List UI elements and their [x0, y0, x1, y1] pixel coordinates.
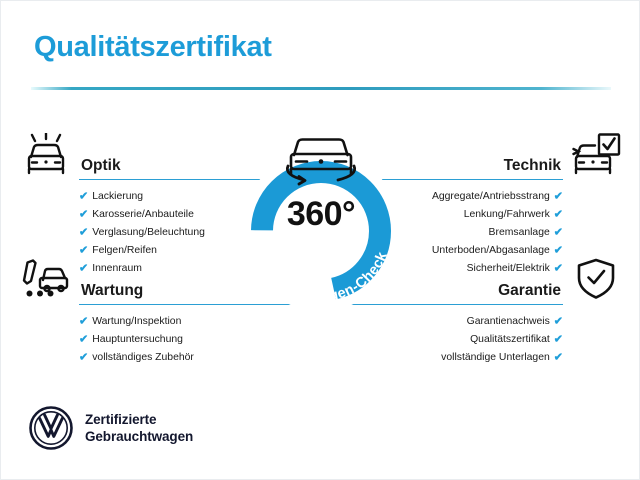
check-icon: ✔ — [79, 209, 88, 220]
list-item-label: Lenkung/Fahrwerk — [464, 206, 550, 224]
list-item-label: Verglasung/Beleuchtung — [92, 224, 205, 242]
section-title: Optik — [81, 157, 121, 175]
section-title: Wartung — [81, 282, 143, 300]
list-item-label: Qualitätszertifikat — [470, 331, 550, 349]
check-icon: ✔ — [79, 352, 88, 363]
list-item-label: Garantienachweis — [467, 313, 550, 331]
list-item: ✔Wartung/Inspektion — [19, 313, 219, 331]
footer-logo: Zertifizierte Gebrauchtwagen — [29, 406, 193, 450]
list-item: Qualitätszertifikat✔ — [423, 331, 623, 349]
logo-text: Zertifizierte Gebrauchtwagen — [85, 411, 193, 445]
list-item-label: Lackierung — [92, 188, 143, 206]
section-optik: Optik ✔Lackierung ✔Karosserie/Anbauteile… — [19, 132, 219, 178]
vw-logo-icon — [29, 406, 73, 450]
section-header: Garantie — [423, 257, 623, 303]
list-item: Lenkung/Fahrwerk✔ — [423, 206, 623, 224]
check-icon: ✔ — [79, 227, 88, 238]
check-icon: ✔ — [79, 191, 88, 202]
badge-number: 360° — [225, 195, 417, 234]
section-header: Wartung — [19, 257, 219, 303]
list-item-label: Bremsanlage — [489, 224, 550, 242]
list-item-label: Aggregate/Antriebsstrang — [432, 188, 550, 206]
check-icon: ✔ — [554, 227, 563, 238]
check-icon: ✔ — [554, 352, 563, 363]
section-title: Garantie — [498, 282, 561, 300]
logo-line-1: Zertifizierte — [85, 411, 193, 428]
page-title: Qualitätszertifikat — [34, 31, 272, 64]
check-icon: ✔ — [554, 209, 563, 220]
list-item: Bremsanlage✔ — [423, 224, 623, 242]
list-item: ✔Lackierung — [19, 188, 219, 206]
list-item-label: Karosserie/Anbauteile — [92, 206, 194, 224]
logo-line-2: Gebrauchtwagen — [85, 428, 193, 445]
list-item-label: vollständige Unterlagen — [441, 349, 550, 367]
section-wartung: Wartung ✔Wartung/Inspektion ✔Hauptunters… — [19, 257, 219, 303]
car-shine-icon — [19, 132, 73, 176]
list-item: vollständige Unterlagen✔ — [423, 349, 623, 367]
title-divider — [31, 87, 611, 90]
check-icon: ✔ — [554, 316, 563, 327]
check-icon: ✔ — [79, 245, 88, 256]
check-icon: ✔ — [554, 245, 563, 256]
section-title: Technik — [504, 157, 561, 175]
checklist: Garantienachweis✔ Qualitätszertifikat✔ v… — [423, 313, 623, 367]
check-icon: ✔ — [554, 334, 563, 345]
section-technik: Technik Aggregate/Antriebsstrang✔ Lenkun… — [423, 132, 623, 178]
shield-check-icon — [569, 257, 623, 301]
checklist: ✔Wartung/Inspektion ✔Hauptuntersuchung ✔… — [19, 313, 219, 367]
section-header: Optik — [19, 132, 219, 178]
section-garantie: Garantie Garantienachweis✔ Qualitätszert… — [423, 257, 623, 303]
certificate-page: Qualitätszertifikat Optik — [0, 0, 640, 480]
wrench-car-icon — [19, 257, 73, 301]
list-item: ✔Hauptuntersuchung — [19, 331, 219, 349]
list-item: ✔Verglasung/Beleuchtung — [19, 224, 219, 242]
list-item: Garantienachweis✔ — [423, 313, 623, 331]
list-item-label: Wartung/Inspektion — [92, 313, 181, 331]
section-header: Technik — [423, 132, 623, 178]
list-item: ✔Karosserie/Anbauteile — [19, 206, 219, 224]
list-item-label: Hauptuntersuchung — [92, 331, 183, 349]
list-item: ✔vollständiges Zubehör — [19, 349, 219, 367]
check-icon: ✔ — [79, 334, 88, 345]
check-icon: ✔ — [554, 191, 563, 202]
badge-360-gebrauchtwagen-check: Gebrauchtwagen-Check 360° — [225, 119, 417, 315]
list-item-label: vollständiges Zubehör — [92, 349, 194, 367]
list-item: Aggregate/Antriebsstrang✔ — [423, 188, 623, 206]
car-checkbox-icon — [569, 132, 623, 176]
check-icon: ✔ — [79, 316, 88, 327]
